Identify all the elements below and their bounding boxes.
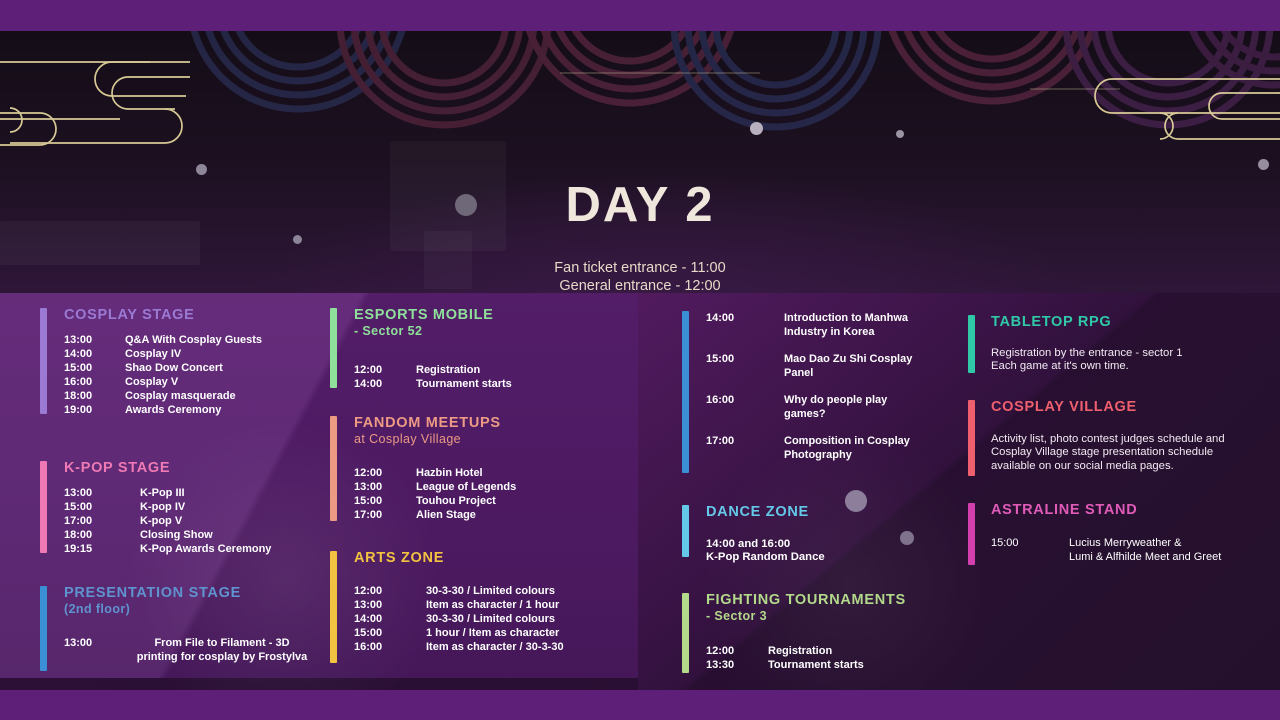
block-fandom-meetups: FANDOM MEETUPS at Cosplay Village 12:00H… [330, 416, 610, 522]
row-desc: Closing Show [140, 528, 213, 542]
accent-bar-astraline-stand [968, 503, 975, 565]
top-frame-bar [0, 0, 1280, 31]
row-time: 16:00 [706, 393, 784, 407]
bokeh-dot [196, 164, 207, 175]
accent-bar-tabletop-rpg [968, 315, 975, 373]
day-title: DAY 2 [0, 181, 1280, 230]
row-desc: K-Pop III [140, 486, 185, 500]
row-desc: Introduction to Manhwa Industry in Korea [784, 311, 908, 339]
row-desc: Touhou Project [416, 494, 496, 508]
block-subtitle: at Cosplay Village [354, 432, 610, 447]
accent-bar-dance-zone [682, 505, 689, 557]
row-time: 13:00 [64, 486, 140, 500]
row-desc: Q&A With Cosplay Guests [125, 333, 262, 347]
block-title: K-POP STAGE [64, 461, 310, 477]
row-time: 14:00 [354, 612, 426, 626]
accent-bar-presentation-stage-continued [682, 311, 689, 473]
table-row: 13:00 From File to Filament - 3D printin… [64, 636, 320, 664]
block-title: FANDOM MEETUPS [354, 416, 610, 432]
row-time: 15:00 [354, 494, 416, 508]
row-desc: Lucius Merryweather & Lumi & Alfhilde Me… [1069, 536, 1221, 564]
row-desc: Item as character / 30-3-30 [426, 640, 564, 654]
table-row: 16:00Item as character / 30-3-30 [354, 640, 620, 654]
table-row: 16:00Cosplay V [64, 375, 310, 389]
block-title: FIGHTING TOURNAMENTS [706, 593, 972, 609]
row-time: 15:00 [354, 626, 426, 640]
table-row: 18:00Cosplay masquerade [64, 389, 310, 403]
row-desc: League of Legends [416, 480, 516, 494]
accent-bar-esports-mobile [330, 308, 337, 388]
row-desc: Shao Dow Concert [125, 361, 223, 375]
row-desc: Registration [416, 363, 480, 377]
row-time: 18:00 [64, 389, 125, 403]
table-row: 15:00Touhou Project [354, 494, 610, 508]
row-desc: K-Pop Awards Ceremony [140, 542, 271, 556]
row-desc: Awards Ceremony [125, 403, 221, 417]
table-row: 15:00 Mao Dao Zu Shi Cosplay Panel [706, 352, 962, 380]
bokeh-dot [1258, 159, 1269, 170]
table-row: 13:00Q&A With Cosplay Guests [64, 333, 310, 347]
table-row: 13:00K-Pop III [64, 486, 310, 500]
row-desc: Alien Stage [416, 508, 476, 522]
table-row: 17:00K-pop V [64, 514, 310, 528]
block-rows: 12:00Registration 13:30Tournament starts [706, 644, 972, 672]
row-desc: Cosplay V [125, 375, 178, 389]
block-rows: 14:00 and 16:00 K-Pop Random Dance [706, 538, 962, 566]
block-title: ASTRALINE STAND [991, 503, 1263, 519]
table-row: 12:00Registration [706, 644, 972, 658]
row-time: 12:00 [354, 363, 416, 377]
block-title: ARTS ZONE [354, 551, 620, 567]
accent-bar-kpop-stage [40, 461, 47, 553]
bokeh-dot [750, 122, 763, 135]
block-title: PRESENTATION STAGE [64, 586, 320, 602]
table-row: 19:00Awards Ceremony [64, 403, 310, 417]
row-desc: Mao Dao Zu Shi Cosplay Panel [784, 352, 912, 380]
block-arts-zone: ARTS ZONE 12:0030-3-30 / Limited colours… [330, 551, 620, 654]
block-cosplay-stage: COSPLAY STAGE 13:00Q&A With Cosplay Gues… [40, 308, 310, 417]
row-time: 14:00 [354, 377, 416, 391]
block-title: COSPLAY STAGE [64, 308, 310, 324]
block-rows: 13:00K-Pop III 15:00K-pop IV 17:00K-pop … [64, 486, 310, 556]
block-dance-zone: DANCE ZONE 14:00 and 16:00 K-Pop Random … [682, 505, 962, 565]
block-kpop-stage: K-POP STAGE 13:00K-Pop III 15:00K-pop IV… [40, 461, 310, 556]
row-desc: Composition in Cosplay Photography [784, 434, 910, 462]
table-row: 15:00 Lucius Merryweather & Lumi & Alfhi… [991, 536, 1263, 564]
block-astraline-stand: ASTRALINE STAND 15:00 Lucius Merryweathe… [968, 503, 1263, 564]
table-row: 19:15K-Pop Awards Ceremony [64, 542, 310, 556]
dance-zone-times: 14:00 and 16:00 [706, 538, 962, 552]
block-rows: 13:00Q&A With Cosplay Guests 14:00Cospla… [64, 333, 310, 417]
block-title: DANCE ZONE [706, 505, 962, 521]
row-time: 13:00 [354, 598, 426, 612]
row-time: 16:00 [354, 640, 426, 654]
row-time: 12:00 [354, 466, 416, 480]
row-time: 15:00 [706, 352, 784, 366]
block-fighting-tournaments: FIGHTING TOURNAMENTS - Sector 3 12:00Reg… [682, 593, 972, 672]
block-tabletop-rpg: TABLETOP RPG Registration by the entranc… [968, 315, 1258, 374]
row-time: 18:00 [64, 528, 140, 542]
block-subtitle: - Sector 3 [706, 609, 972, 624]
row-time: 17:00 [706, 434, 784, 448]
accent-bar-fighting-tournaments [682, 593, 689, 673]
row-time: 14:00 [706, 311, 784, 325]
table-row: 18:00Closing Show [64, 528, 310, 542]
schedule-poster: DAY 2 Fan ticket entrance - 11:00 Genera… [0, 0, 1280, 720]
block-title: TABLETOP RPG [991, 315, 1258, 331]
row-time: 15:00 [991, 536, 1069, 550]
row-time: 19:00 [64, 403, 125, 417]
block-presentation-stage-continued: 14:00 Introduction to Manhwa Industry in… [682, 311, 962, 462]
block-presentation-stage: PRESENTATION STAGE (2nd floor) 13:00 Fro… [40, 586, 320, 664]
row-desc: Why do people play games? [784, 393, 887, 421]
entrance-info: Fan ticket entrance - 11:00 General entr… [0, 259, 1280, 293]
row-time: 13:00 [64, 333, 125, 347]
block-rows: 13:00 From File to Filament - 3D printin… [64, 636, 320, 664]
block-title: COSPLAY VILLAGE [991, 400, 1263, 416]
row-time: 15:00 [64, 361, 125, 375]
row-desc: Cosplay IV [125, 347, 181, 361]
block-rows: 15:00 Lucius Merryweather & Lumi & Alfhi… [991, 536, 1263, 564]
row-desc: K-pop V [140, 514, 182, 528]
accent-bar-arts-zone [330, 551, 337, 663]
row-desc: Item as character / 1 hour [426, 598, 559, 612]
table-row: 14:0030-3-30 / Limited colours [354, 612, 620, 626]
hero-banner: DAY 2 Fan ticket entrance - 11:00 Genera… [0, 31, 1280, 293]
row-time: 16:00 [64, 375, 125, 389]
block-title: ESPORTS MOBILE [354, 308, 610, 324]
block-rows: 12:00Hazbin Hotel 13:00League of Legends… [354, 466, 610, 522]
block-cosplay-village: COSPLAY VILLAGE Activity list, photo con… [968, 400, 1263, 474]
tabletop-rpg-note: Registration by the entrance - sector 1 … [991, 347, 1258, 375]
bottom-frame-bar [0, 690, 1280, 720]
block-rows: 12:0030-3-30 / Limited colours 13:00Item… [354, 584, 620, 654]
row-time: 12:00 [706, 644, 768, 658]
table-row: 15:00Shao Dow Concert [64, 361, 310, 375]
table-row: 14:00Cosplay IV [64, 347, 310, 361]
bokeh-dot [293, 235, 302, 244]
row-time: 17:00 [354, 508, 416, 522]
table-row: 12:0030-3-30 / Limited colours [354, 584, 620, 598]
block-subtitle: - Sector 52 [354, 324, 610, 339]
row-desc: Tournament starts [416, 377, 512, 391]
entrance-line-general: General entrance - 12:00 [0, 277, 1280, 293]
row-desc: Registration [768, 644, 832, 658]
table-row: 16:00 Why do people play games? [706, 393, 962, 421]
table-row: 12:00Hazbin Hotel [354, 466, 610, 480]
table-row: 13:00Item as character / 1 hour [354, 598, 620, 612]
row-desc: 30-3-30 / Limited colours [426, 612, 555, 626]
cosplay-village-note: Activity list, photo contest judges sche… [991, 433, 1263, 474]
table-row: 12:00Registration [354, 363, 610, 377]
row-desc: 1 hour / Item as character [426, 626, 559, 640]
table-row: 15:00K-pop IV [64, 500, 310, 514]
block-subtitle: (2nd floor) [64, 602, 320, 617]
entrance-line-fan: Fan ticket entrance - 11:00 [0, 259, 1280, 277]
gold-cloud-decoration [0, 31, 1280, 171]
table-row: 13:00League of Legends [354, 480, 610, 494]
block-rows: 12:00Registration 14:00Tournament starts [354, 363, 610, 391]
table-row: 14:00Tournament starts [354, 377, 610, 391]
row-desc: Cosplay masquerade [125, 389, 236, 403]
table-row: 17:00 Composition in Cosplay Photography [706, 434, 962, 462]
accent-bar-cosplay-village [968, 400, 975, 476]
accent-bar-presentation-stage [40, 586, 47, 671]
table-row: 17:00Alien Stage [354, 508, 610, 522]
row-desc: 30-3-30 / Limited colours [426, 584, 555, 598]
row-desc: From File to Filament - 3D printing for … [134, 636, 310, 664]
row-desc: K-pop IV [140, 500, 185, 514]
row-time: 14:00 [64, 347, 125, 361]
row-time: 13:00 [64, 636, 134, 650]
row-time: 13:00 [354, 480, 416, 494]
dance-zone-desc: K-Pop Random Dance [706, 551, 962, 565]
table-row: 13:30Tournament starts [706, 658, 972, 672]
row-time: 15:00 [64, 500, 140, 514]
block-esports-mobile: ESPORTS MOBILE - Sector 52 12:00Registra… [330, 308, 610, 391]
table-row: 14:00 Introduction to Manhwa Industry in… [706, 311, 962, 339]
block-rows: 14:00 Introduction to Manhwa Industry in… [706, 311, 962, 462]
row-desc: Tournament starts [768, 658, 864, 672]
accent-bar-fandom-meetups [330, 416, 337, 521]
schedule-area: COSPLAY STAGE 13:00Q&A With Cosplay Gues… [0, 293, 1280, 690]
row-time: 19:15 [64, 542, 140, 556]
row-desc: Hazbin Hotel [416, 466, 483, 480]
table-row: 15:001 hour / Item as character [354, 626, 620, 640]
bokeh-dot [896, 130, 904, 138]
accent-bar-cosplay-stage [40, 308, 47, 414]
row-time: 13:30 [706, 658, 768, 672]
row-time: 17:00 [64, 514, 140, 528]
row-time: 12:00 [354, 584, 426, 598]
